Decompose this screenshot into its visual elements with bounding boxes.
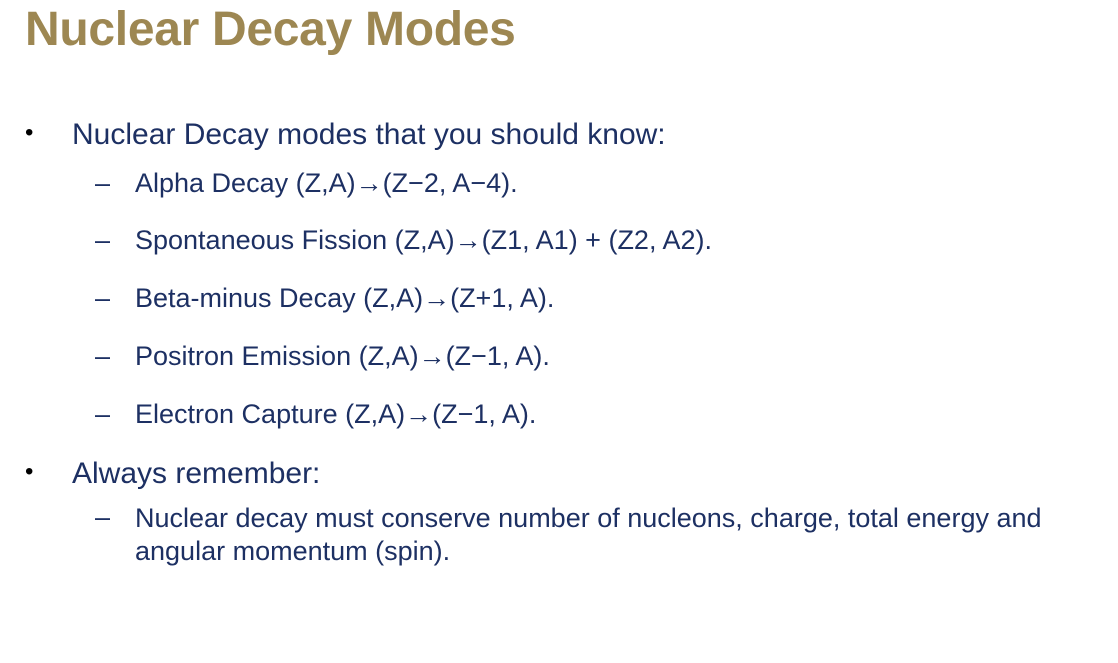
sub-bullet-group-always-remember: – Nuclear decay must conserve number of … — [0, 502, 1118, 568]
dash-marker-icon: – — [95, 225, 121, 257]
list-item-label: Alpha Decay (Z,A)→(Z−2, A−4). — [135, 168, 518, 198]
bullet-level1-always-remember: • Always remember: — [0, 457, 1118, 491]
sub-bullet-group-decay-modes: – Alpha Decay (Z,A)→(Z−2, A−4). – Sponta… — [0, 168, 1118, 431]
list-item-label: Electron Capture (Z,A)→(Z−1, A). — [135, 399, 536, 429]
list-item-label: Positron Emission (Z,A)→(Z−1, A). — [135, 341, 550, 371]
list-item-positron-emission: – Positron Emission (Z,A)→(Z−1, A). — [0, 341, 1118, 373]
dash-marker-icon: – — [95, 341, 121, 373]
list-item-label: Nuclear decay must conserve number of nu… — [135, 503, 1042, 566]
list-item-electron-capture: – Electron Capture (Z,A)→(Z−1, A). — [0, 399, 1118, 431]
bullet-level1-label: Always remember: — [72, 457, 320, 490]
bullet-dot-icon: • — [25, 457, 47, 488]
list-item-spontaneous-fission: – Spontaneous Fission (Z,A)→(Z1, A1) + (… — [0, 225, 1118, 257]
list-item-beta-minus-decay: – Beta-minus Decay (Z,A)→(Z+1, A). — [0, 283, 1118, 315]
list-item-conservation-rule: – Nuclear decay must conserve number of … — [0, 502, 1118, 568]
dash-marker-icon: – — [95, 283, 121, 315]
bullet-level1-label: Nuclear Decay modes that you should know… — [72, 118, 666, 151]
dash-marker-icon: – — [95, 502, 121, 534]
list-item-label: Beta-minus Decay (Z,A)→(Z+1, A). — [135, 283, 554, 313]
list-item-alpha-decay: – Alpha Decay (Z,A)→(Z−2, A−4). — [0, 168, 1118, 200]
page-title: Nuclear Decay Modes — [25, 2, 516, 57]
bullet-level1-decay-modes: • Nuclear Decay modes that you should kn… — [0, 118, 1118, 152]
list-item-label: Spontaneous Fission (Z,A)→(Z1, A1) + (Z2… — [135, 225, 712, 255]
dash-marker-icon: – — [95, 168, 121, 200]
slide-body: • Nuclear Decay modes that you should kn… — [0, 118, 1118, 568]
dash-marker-icon: – — [95, 399, 121, 431]
bullet-dot-icon: • — [25, 118, 47, 149]
slide: Nuclear Decay Modes • Nuclear Decay mode… — [0, 0, 1118, 663]
